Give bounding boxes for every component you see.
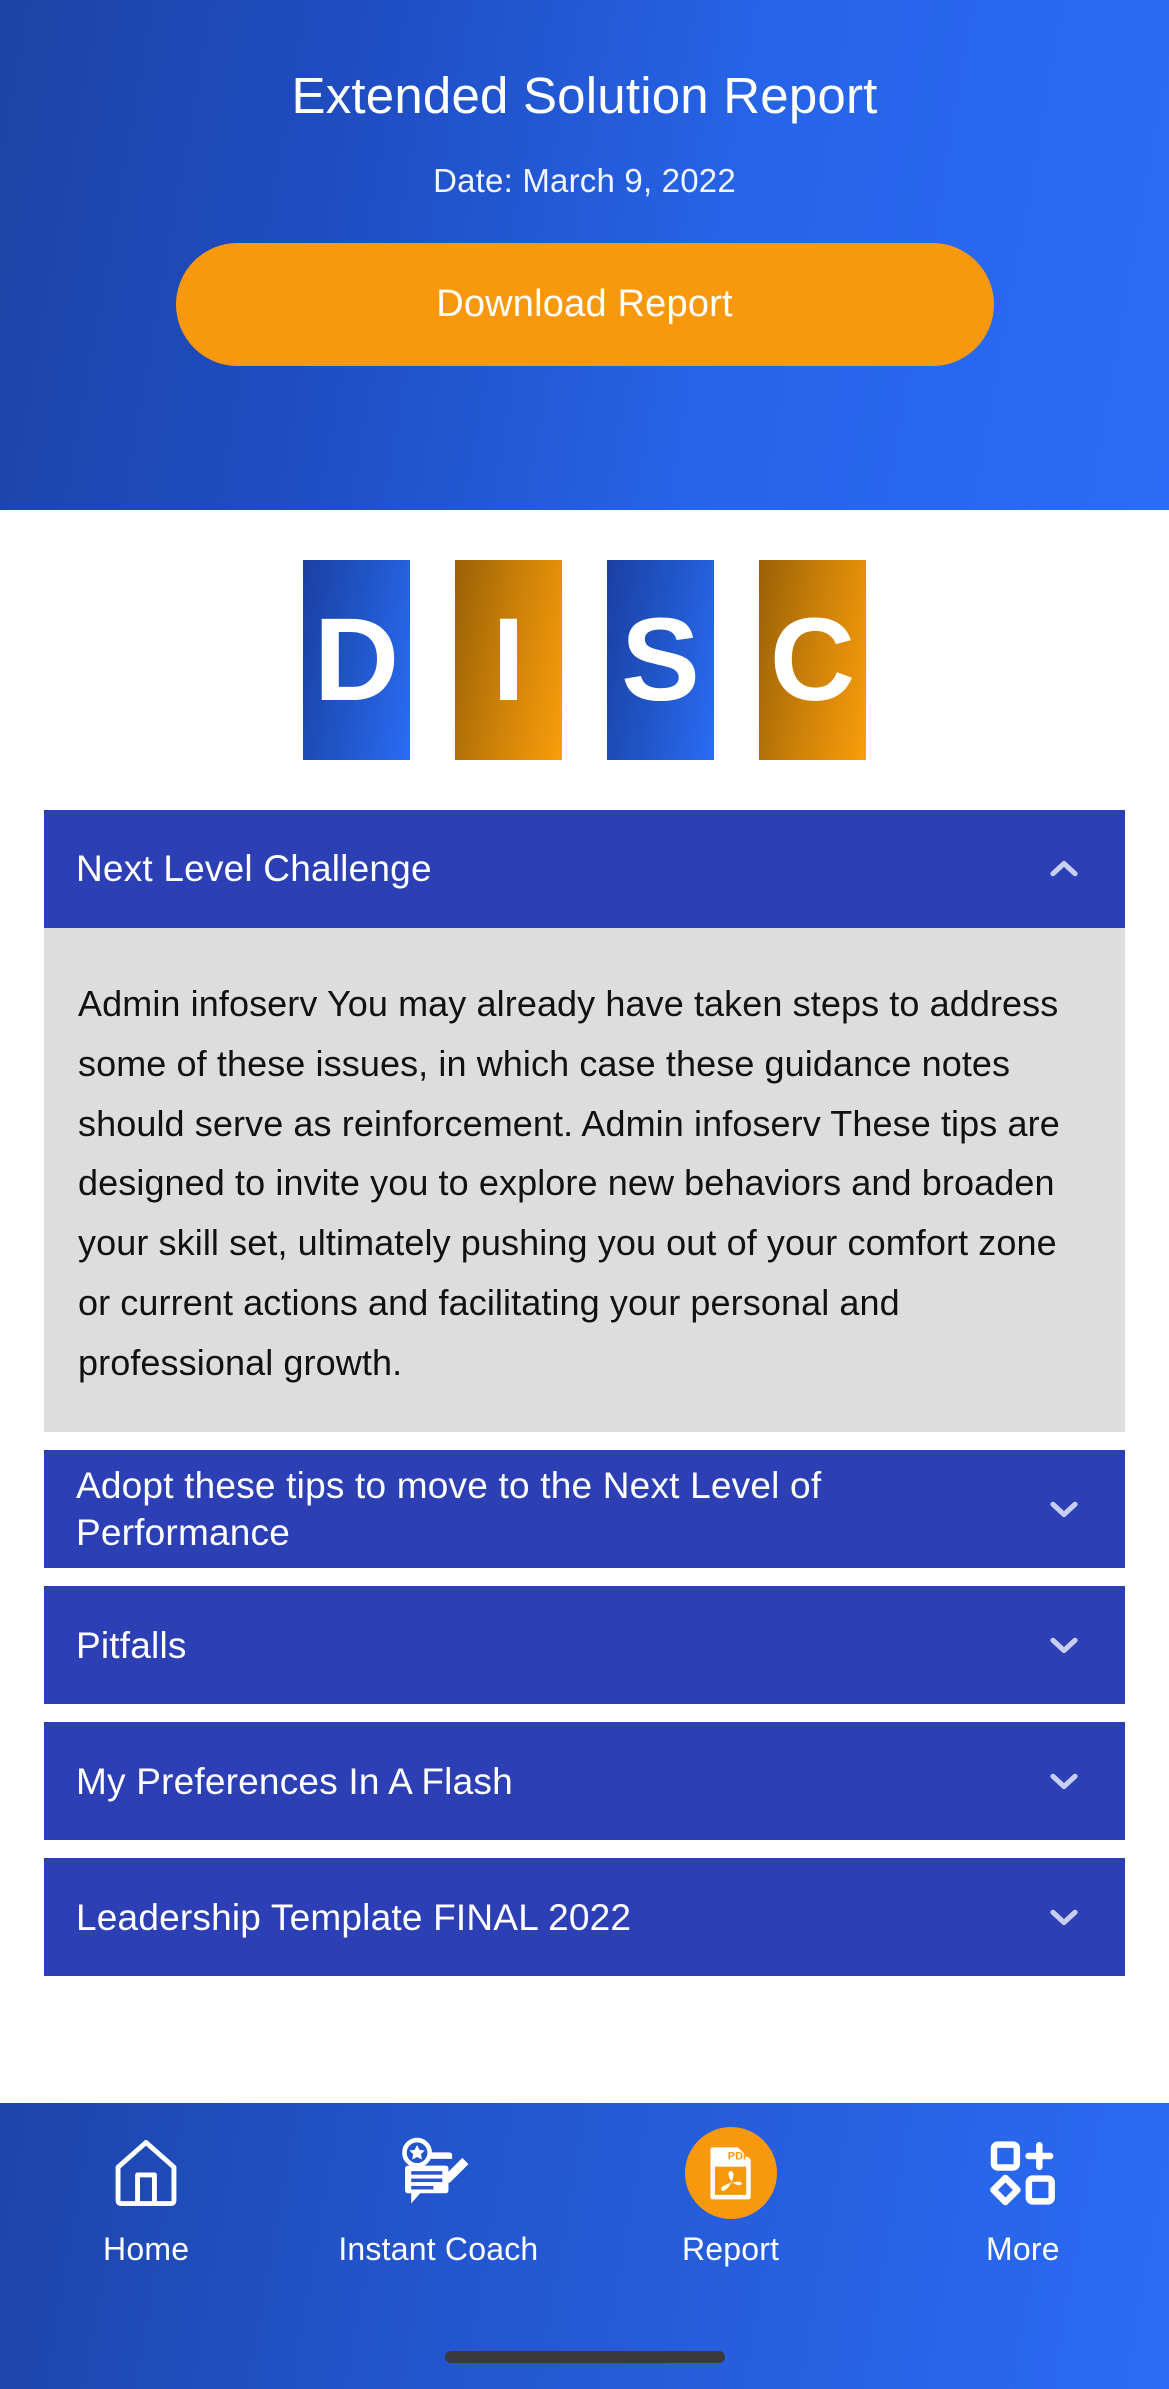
accordion-label: My Preferences In A Flash	[76, 1758, 537, 1805]
grid-shapes-icon	[986, 2127, 1060, 2219]
tab-more[interactable]: More	[877, 2127, 1169, 2287]
accordion-header-next-level-challenge[interactable]: Next Level Challenge	[44, 810, 1125, 928]
app-screen: Extended Solution Report Date: March 9, …	[0, 0, 1169, 2389]
accordion-header-pitfalls[interactable]: Pitfalls	[44, 1586, 1125, 1704]
accordion-panel-next-level-challenge: Admin infoserv You may already have take…	[44, 928, 1125, 1432]
list-spacer	[0, 1704, 1169, 1722]
disc-tile-s[interactable]: S	[607, 560, 714, 760]
report-date: Date: March 9, 2022	[433, 162, 736, 200]
pdf-file-icon: PDF	[685, 2127, 777, 2219]
accordion-header-leadership-template-final-2022[interactable]: Leadership Template FINAL 2022	[44, 1858, 1125, 1976]
disc-tile-c[interactable]: C	[759, 560, 866, 760]
list-spacer	[0, 1432, 1169, 1450]
accordion-label: Pitfalls	[76, 1622, 211, 1669]
page-title: Extended Solution Report	[291, 68, 877, 124]
accordion-header-adopt-these-tips[interactable]: Adopt these tips to move to the Next Lev…	[44, 1450, 1125, 1568]
tab-label: Instant Coach	[338, 2231, 538, 2268]
disc-tile-i[interactable]: I	[455, 560, 562, 760]
bottom-tab-bar: Home	[0, 2103, 1169, 2389]
accordion-body-text: Admin infoserv You may already have take…	[78, 974, 1091, 1392]
tab-instant-coach[interactable]: Instant Coach	[292, 2127, 584, 2287]
chevron-down-icon[interactable]	[1045, 1898, 1083, 1936]
report-header: Extended Solution Report Date: March 9, …	[0, 0, 1169, 510]
accordion-header-my-preferences-in-a-flash[interactable]: My Preferences In A Flash	[44, 1722, 1125, 1840]
chevron-up-icon[interactable]	[1045, 850, 1083, 888]
accordion-label: Next Level Challenge	[76, 845, 456, 892]
disc-letter-strip: D I S C	[0, 510, 1169, 810]
list-spacer	[0, 1840, 1169, 1858]
disc-tile-d[interactable]: D	[303, 560, 410, 760]
tab-label: More	[986, 2231, 1060, 2268]
tab-list: Home	[0, 2127, 1169, 2287]
tab-home[interactable]: Home	[0, 2127, 292, 2287]
chevron-down-icon[interactable]	[1045, 1762, 1083, 1800]
accordion-label: Leadership Template FINAL 2022	[76, 1894, 655, 1941]
svg-text:PDF: PDF	[727, 2150, 749, 2162]
download-report-button[interactable]: Download Report	[176, 243, 994, 366]
chevron-down-icon[interactable]	[1045, 1626, 1083, 1664]
home-icon	[107, 2127, 185, 2219]
list-spacer	[0, 1568, 1169, 1586]
report-tab-icon-wrap: PDF	[685, 2127, 777, 2219]
tab-report[interactable]: PDF Report	[585, 2127, 877, 2287]
chat-pencil-icon	[398, 2127, 478, 2219]
home-indicator[interactable]	[445, 2351, 725, 2363]
tab-label: Report	[682, 2231, 779, 2268]
accordion-label: Adopt these tips to move to the Next Lev…	[76, 1462, 1045, 1557]
tab-label: Home	[103, 2231, 189, 2268]
chevron-down-icon[interactable]	[1045, 1490, 1083, 1528]
accordion-list: Next Level Challenge Admin infoserv You …	[0, 810, 1169, 1976]
